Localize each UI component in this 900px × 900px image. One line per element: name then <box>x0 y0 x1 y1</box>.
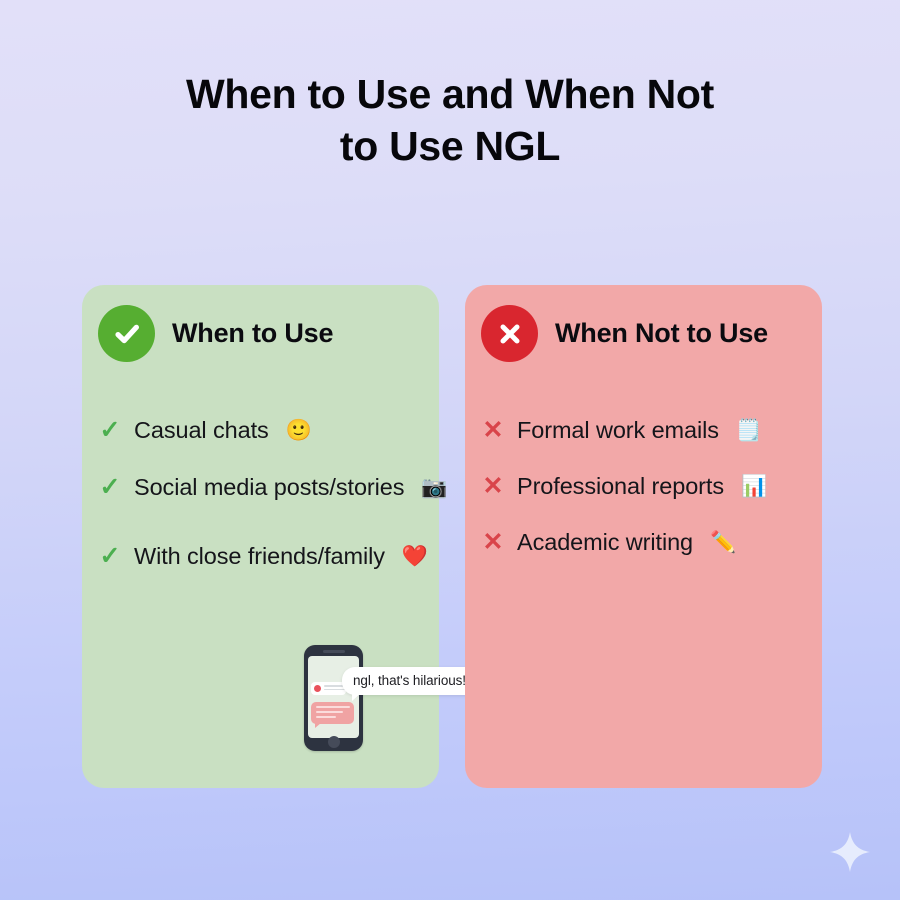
pencil-emoji: ✏️ <box>710 532 736 553</box>
list-item-label: Academic writing <box>517 529 693 556</box>
x-circle-icon <box>481 305 538 362</box>
when-to-use-heading: When to Use <box>172 318 333 349</box>
contact-avatar-dot <box>314 685 321 692</box>
phone-chat-illustration: ngl, that's hilarious! 😂 <box>224 645 424 765</box>
when-to-use-card-header: When to Use <box>98 305 333 362</box>
list-item-label: Professional reports <box>517 473 724 500</box>
phone-home-button <box>328 736 340 748</box>
when-not-to-use-list: ✕ Formal work emails 🗒️ ✕ Professional r… <box>481 417 812 556</box>
page-title-line-2: to Use NGL <box>0 120 900 172</box>
spiral-notepad-emoji: 🗒️ <box>736 420 762 441</box>
outgoing-message-bubble <box>311 702 354 724</box>
page-title: When to Use and When Not to Use NGL <box>0 68 900 172</box>
list-item-label: Casual chats <box>134 417 269 444</box>
infographic-canvas: When to Use and When Not to Use NGL When… <box>0 0 900 900</box>
sparkle-icon <box>828 830 872 874</box>
check-circle-icon <box>98 305 155 362</box>
list-item: ✓ With close friends/family ❤️ <box>98 543 429 570</box>
phone-speaker-notch <box>323 650 345 653</box>
list-item: ✕ Formal work emails 🗒️ <box>481 417 812 444</box>
check-icon: ✓ <box>98 418 122 443</box>
camera-emoji: 📷 <box>421 477 447 498</box>
list-item-label: Social media posts/stories <box>134 474 404 501</box>
list-item: ✕ Academic writing ✏️ <box>481 529 812 556</box>
check-icon: ✓ <box>98 544 122 569</box>
when-not-to-use-heading: When Not to Use <box>555 318 768 349</box>
speech-bubble-tail <box>352 693 361 701</box>
slightly-smiling-face-emoji: 🙂 <box>286 420 312 441</box>
list-item: ✓ Casual chats 🙂 <box>98 417 429 444</box>
list-item: ✕ Professional reports 📊 <box>481 473 812 500</box>
when-not-to-use-card: When Not to Use ✕ Formal work emails 🗒️ … <box>465 285 822 788</box>
bar-chart-emoji: 📊 <box>741 476 767 497</box>
when-not-to-use-card-header: When Not to Use <box>481 305 768 362</box>
when-to-use-list: ✓ Casual chats 🙂 ✓ Social media posts/st… <box>98 417 429 570</box>
cross-mark-icon: ✕ <box>481 418 505 443</box>
when-to-use-card: When to Use ✓ Casual chats 🙂 ✓ Social me… <box>82 285 439 788</box>
list-item-label: Formal work emails <box>517 417 719 444</box>
speech-bubble-text: ngl, that's hilarious! <box>353 673 466 688</box>
cross-mark-icon: ✕ <box>481 474 505 499</box>
incoming-message-bubble <box>311 682 346 695</box>
cross-mark-icon: ✕ <box>481 530 505 555</box>
list-item-label: With close friends/family <box>134 543 385 570</box>
check-icon: ✓ <box>98 475 122 500</box>
list-item: ✓ Social media posts/stories 📷 <box>98 474 429 501</box>
bubble-tail <box>315 723 321 728</box>
red-heart-emoji: ❤️ <box>402 546 428 567</box>
page-title-line-1: When to Use and When Not <box>0 68 900 120</box>
